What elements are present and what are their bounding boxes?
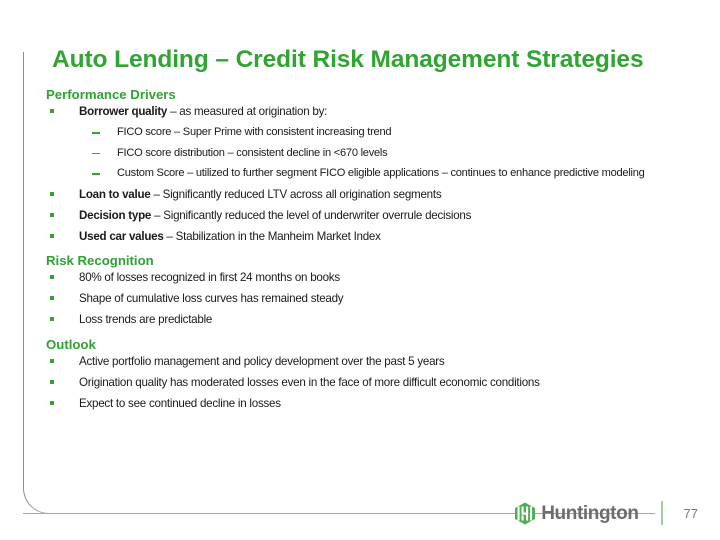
bullet-item: Decision type – Significantly reduced th… — [44, 209, 709, 223]
huntington-hexagon-icon — [514, 502, 536, 525]
bullet-square-icon — [50, 296, 54, 300]
bullet-text: Expect to see continued decline in losse… — [79, 397, 281, 410]
bullet-square-icon — [50, 192, 54, 196]
bullet-item: 80% of losses recognized in first 24 mon… — [44, 271, 709, 285]
bullet-text: Loss trends are predictable — [79, 313, 212, 326]
bullet-item: Origination quality has moderated losses… — [44, 376, 709, 390]
section-heading: Performance Drivers — [46, 86, 709, 103]
sub-bullet-dash-icon — [92, 173, 100, 175]
bullet-text: – Significantly reduced LTV across all o… — [150, 188, 441, 201]
sub-bullet-text: Custom Score – utilized to further segme… — [117, 167, 645, 179]
bullet-text: Active portfolio management and policy d… — [79, 355, 444, 368]
bullet-square-icon — [50, 234, 54, 238]
slide-canvas: Auto Lending – Credit Risk Management St… — [0, 0, 720, 540]
bullet-item: Shape of cumulative loss curves has rema… — [44, 292, 709, 306]
bullet-lead-label: Borrower quality — [79, 105, 167, 118]
sub-bullet-text: FICO score – Super Prime with consistent… — [117, 126, 391, 138]
section-heading: Risk Recognition — [46, 252, 709, 269]
bullet-square-icon — [50, 317, 54, 321]
bullet-text: – as measured at origination by: — [167, 105, 327, 118]
bullet-item: Active portfolio management and policy d… — [44, 355, 709, 369]
bullet-square-icon — [50, 359, 54, 363]
sub-bullet-item: FICO score distribution – consistent dec… — [44, 147, 709, 161]
bullet-square-icon — [50, 109, 54, 113]
bullet-square-icon — [50, 401, 54, 405]
sub-bullet-list: FICO score – Super Prime with consistent… — [44, 126, 709, 181]
bullet-lead-label: Decision type — [79, 209, 151, 222]
bullet-item: Borrower quality – as measured at origin… — [44, 105, 709, 119]
footer-divider-tick — [661, 501, 663, 525]
bullet-text: 80% of losses recognized in first 24 mon… — [79, 271, 340, 284]
sub-bullet-text: FICO score distribution – consistent dec… — [117, 147, 387, 159]
slide-footer: Huntington 77 — [514, 496, 698, 530]
huntington-wordmark: Huntington — [541, 504, 638, 523]
slide-title: Auto Lending – Credit Risk Management St… — [52, 46, 643, 74]
bullet-square-icon — [50, 213, 54, 217]
bullet-lead-label: Used car values — [79, 230, 164, 243]
section-heading: Outlook — [46, 336, 709, 353]
bullet-item: Loan to value – Significantly reduced LT… — [44, 188, 709, 202]
bullet-lead-label: Loan to value — [79, 188, 150, 201]
page-number: 77 — [684, 507, 698, 520]
bullet-item: Used car values – Stabilization in the M… — [44, 230, 709, 244]
bullet-item: Loss trends are predictable — [44, 313, 709, 327]
bullet-item: Expect to see continued decline in losse… — [44, 397, 709, 411]
bullet-text: Origination quality has moderated losses… — [79, 376, 540, 389]
sub-bullet-dash-icon — [92, 132, 100, 134]
bullet-text: – Stabilization in the Manheim Market In… — [164, 230, 381, 243]
huntington-logo: Huntington — [514, 502, 638, 525]
footer-divider-rule — [23, 513, 515, 514]
sub-bullet-dash-icon — [92, 153, 100, 155]
sub-bullet-item: Custom Score – utilized to further segme… — [44, 167, 709, 181]
bullet-square-icon — [50, 380, 54, 384]
bullet-square-icon — [50, 275, 54, 279]
bullet-text: Shape of cumulative loss curves has rema… — [79, 292, 343, 305]
bullet-text: – Significantly reduced the level of und… — [151, 209, 471, 222]
slide-body: Performance DriversBorrower quality – as… — [44, 86, 709, 418]
sub-bullet-item: FICO score – Super Prime with consistent… — [44, 126, 709, 140]
